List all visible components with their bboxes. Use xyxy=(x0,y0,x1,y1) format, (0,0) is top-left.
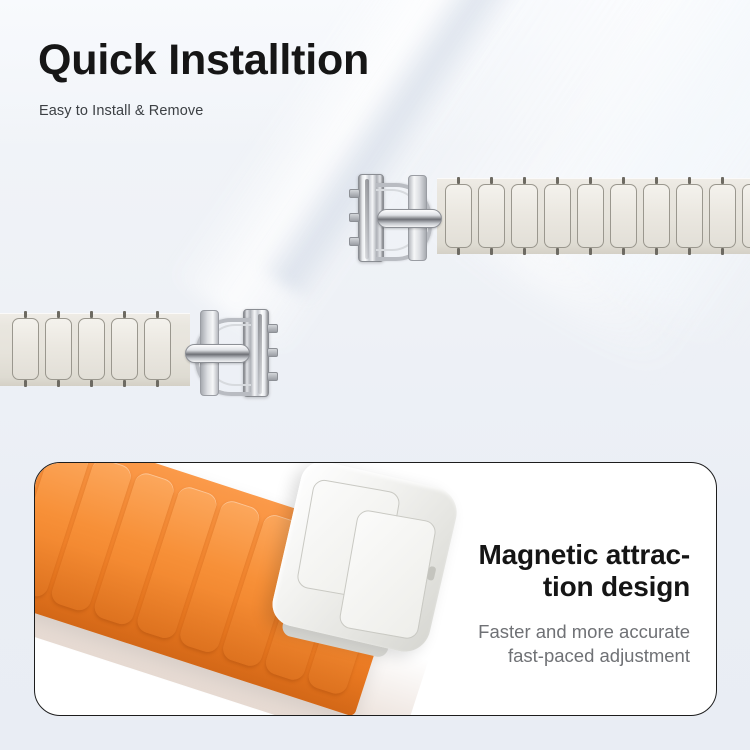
band-segment xyxy=(577,184,604,248)
band-segment xyxy=(511,184,538,248)
feature-card: Magnetic attrac- tion design Faster and … xyxy=(34,462,717,716)
feature-title: Magnetic attrac- tion design xyxy=(390,539,690,604)
feature-text-block: Magnetic attrac- tion design Faster and … xyxy=(390,539,690,669)
band-strap xyxy=(0,313,190,386)
clasp-lug-icon xyxy=(349,213,360,222)
band-segment xyxy=(78,318,105,380)
page-subtitle: Easy to Install & Remove xyxy=(39,103,203,119)
band-segment xyxy=(709,184,736,248)
band-segment xyxy=(144,318,171,380)
watch-band-lower xyxy=(0,300,300,400)
band-segment xyxy=(445,184,472,248)
band-strap xyxy=(437,178,750,254)
band-segment xyxy=(12,318,39,380)
watch-band-upper xyxy=(350,163,750,268)
product-feature-page: Quick Installtion Easy to Install & Remo… xyxy=(0,0,750,750)
band-segment xyxy=(478,184,505,248)
clasp-pin-icon xyxy=(377,209,442,228)
clasp-lug-icon xyxy=(349,189,360,198)
clasp-lug-icon xyxy=(349,237,360,246)
magnetic-clasp xyxy=(185,300,277,405)
band-segment xyxy=(643,184,670,248)
band-segment xyxy=(45,318,72,380)
clasp-lug-icon xyxy=(267,324,278,333)
magnetic-clasp xyxy=(350,165,442,270)
clasp-pin-icon xyxy=(185,344,250,363)
band-segment xyxy=(111,318,138,380)
feature-subtitle: Faster and more accurate fast-paced adju… xyxy=(390,620,690,669)
band-segment xyxy=(676,184,703,248)
page-title: Quick Installtion xyxy=(38,36,369,84)
clasp-lug-icon xyxy=(267,348,278,357)
band-segment xyxy=(742,184,750,248)
clasp-lug-icon xyxy=(267,372,278,381)
band-segment xyxy=(610,184,637,248)
band-segment xyxy=(544,184,571,248)
